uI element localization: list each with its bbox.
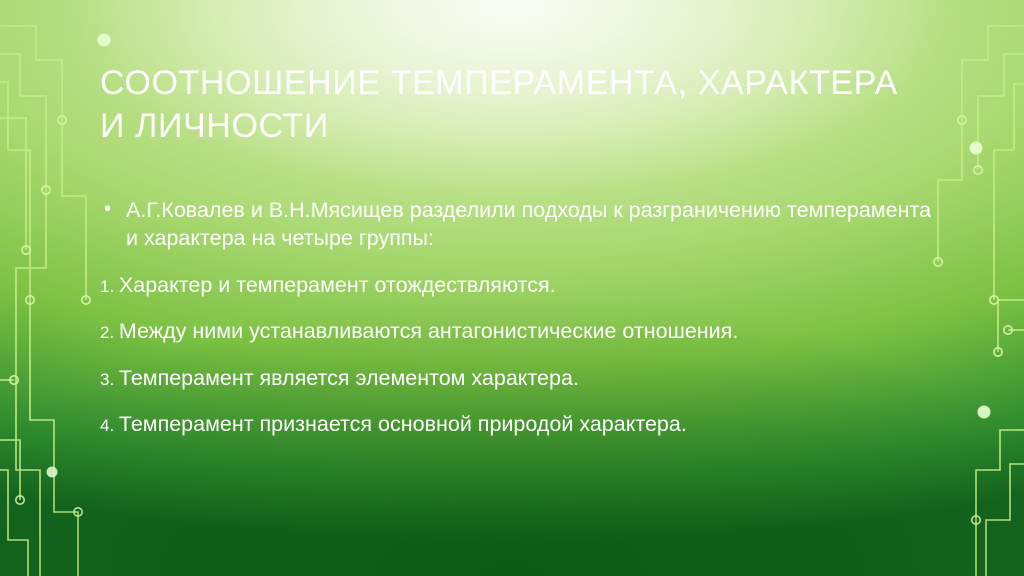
list-item: 4. Темперамент признается основной приро… <box>100 410 940 438</box>
bullet-icon: • <box>104 196 111 222</box>
list-item: 1. Характер и темперамент отождествляютс… <box>100 271 940 299</box>
list-item-number: 2. <box>100 323 119 342</box>
list-item: 3. Темперамент является элементом характ… <box>100 364 940 392</box>
list-item: • А.Г.Ковалев и В.Н.Мясищев разделили по… <box>100 196 940 253</box>
list-item: 2. Между ними устанавливаются антагонист… <box>100 317 940 345</box>
list-item-number: 3. <box>100 370 119 389</box>
list-item-number: 1. <box>100 277 119 296</box>
list-item-label: Темперамент является элементом характера… <box>119 366 579 390</box>
list-item-label: А.Г.Ковалев и В.Н.Мясищев разделили подх… <box>126 198 931 250</box>
slide-content: Соотношение темперамента, характера и ли… <box>0 0 1024 576</box>
slide-body: • А.Г.Ковалев и В.Н.Мясищев разделили по… <box>100 196 940 456</box>
list-item-label: Темперамент признается основной природой… <box>119 412 687 436</box>
presentation-slide: Соотношение темперамента, характера и ли… <box>0 0 1024 576</box>
list-item-label: Между ними устанавливаются антагонистиче… <box>119 319 738 343</box>
list-item-label: Характер и темперамент отождествляются. <box>119 273 556 297</box>
page-title: Соотношение темперамента, характера и ли… <box>100 62 930 147</box>
list-item-number: 4. <box>100 416 119 435</box>
